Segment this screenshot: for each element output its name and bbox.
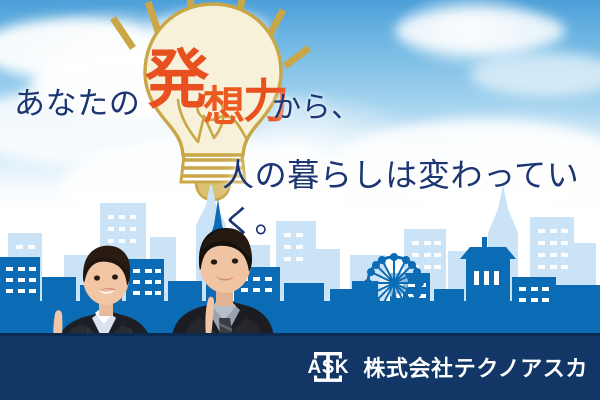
banner-root: あなたの 発 想 力 から、 人の暮らしは変わっていく。 [0,0,600,400]
headline-highlight-kanji-1: 発 [145,48,209,112]
company-name: 株式会社テクノアスカ [363,351,588,383]
company-logo[interactable]: ASK 株式会社テクノアスカ [302,351,588,383]
ask-logo-text: ASK [302,357,354,379]
headline-line1-suffix: から、 [272,84,361,126]
footer-top-rule [0,333,600,336]
headline-highlight-kanji-2: 想 [203,86,245,128]
ask-logo-mark: ASK [302,352,354,382]
headline-line1-prefix: あなたの [14,78,140,123]
footer-band: ASK 株式会社テクノアスカ [0,333,600,400]
